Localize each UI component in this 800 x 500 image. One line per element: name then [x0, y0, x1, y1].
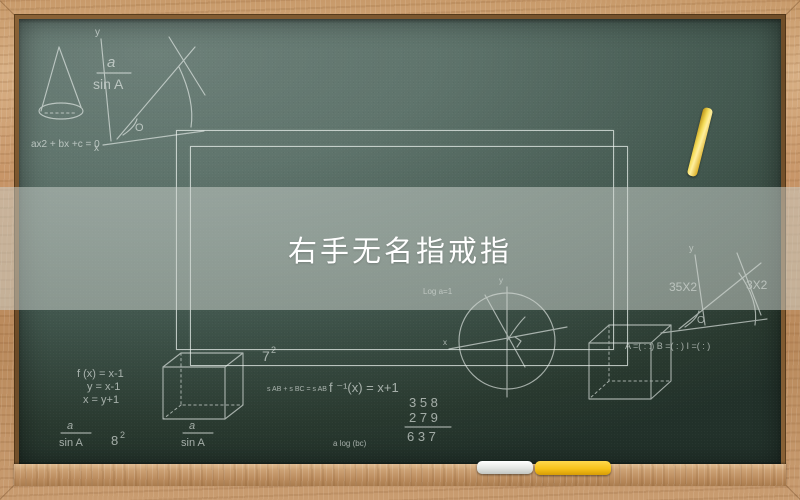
svg-text:2 7 9: 2 7 9 [409, 410, 438, 425]
quadratic-text: ax2 + bx +c = 0 [31, 139, 100, 150]
vector-sum-text: s AB + s BC = s AB [267, 386, 327, 393]
matrix-row-text: A =( : :) B =( : ) I =( : ) [625, 341, 710, 351]
law-of-sines-note-3: a sin A [181, 420, 213, 449]
law-of-sines-note-2: a sin A [59, 420, 91, 449]
svg-text:x = y+1: x = y+1 [83, 394, 119, 406]
caption-band: 右手无名指戒指 [0, 187, 800, 310]
svg-text:f (x) = x-1: f (x) = x-1 [77, 368, 124, 380]
svg-text:3 5 8: 3 5 8 [409, 395, 438, 410]
chalk-piece-yellow-ledge [535, 461, 611, 475]
log-identity-small-text: a log (bc) [333, 439, 367, 448]
function-notes: f (x) = x-1 y = x-1 x = y+1 [77, 368, 124, 406]
svg-text:2: 2 [120, 430, 125, 440]
eight-squared: 8 2 [111, 430, 125, 448]
svg-text:a: a [107, 54, 115, 71]
inverse-function-text: f ⁻¹(x) = x+1 [329, 380, 399, 395]
svg-text:6 3 7: 6 3 7 [407, 429, 436, 444]
caption-text: 右手无名指戒指 [288, 228, 512, 270]
chalkboard-image: a sin A y x O ax2 + bx +c = 0 f (x) = x-… [0, 0, 800, 500]
cone-drawing [39, 47, 83, 119]
chalk-ledge [14, 464, 786, 486]
svg-text:sin A: sin A [93, 76, 124, 92]
ledge-wood-grain [14, 464, 786, 486]
svg-text:a: a [67, 420, 73, 432]
svg-text:sin A: sin A [181, 437, 206, 449]
addition-sum: 3 5 8 2 7 9 6 3 7 [405, 395, 451, 444]
svg-text:y = x-1: y = x-1 [87, 381, 120, 393]
svg-text:sin A: sin A [59, 437, 84, 449]
svg-text:O: O [697, 315, 705, 326]
svg-text:a: a [189, 420, 195, 432]
chalk-piece-white-ledge [477, 461, 533, 474]
svg-text:8: 8 [111, 433, 118, 448]
svg-text:y: y [95, 27, 100, 38]
law-of-sines-note: a sin A [93, 54, 131, 92]
svg-text:O: O [135, 122, 144, 134]
